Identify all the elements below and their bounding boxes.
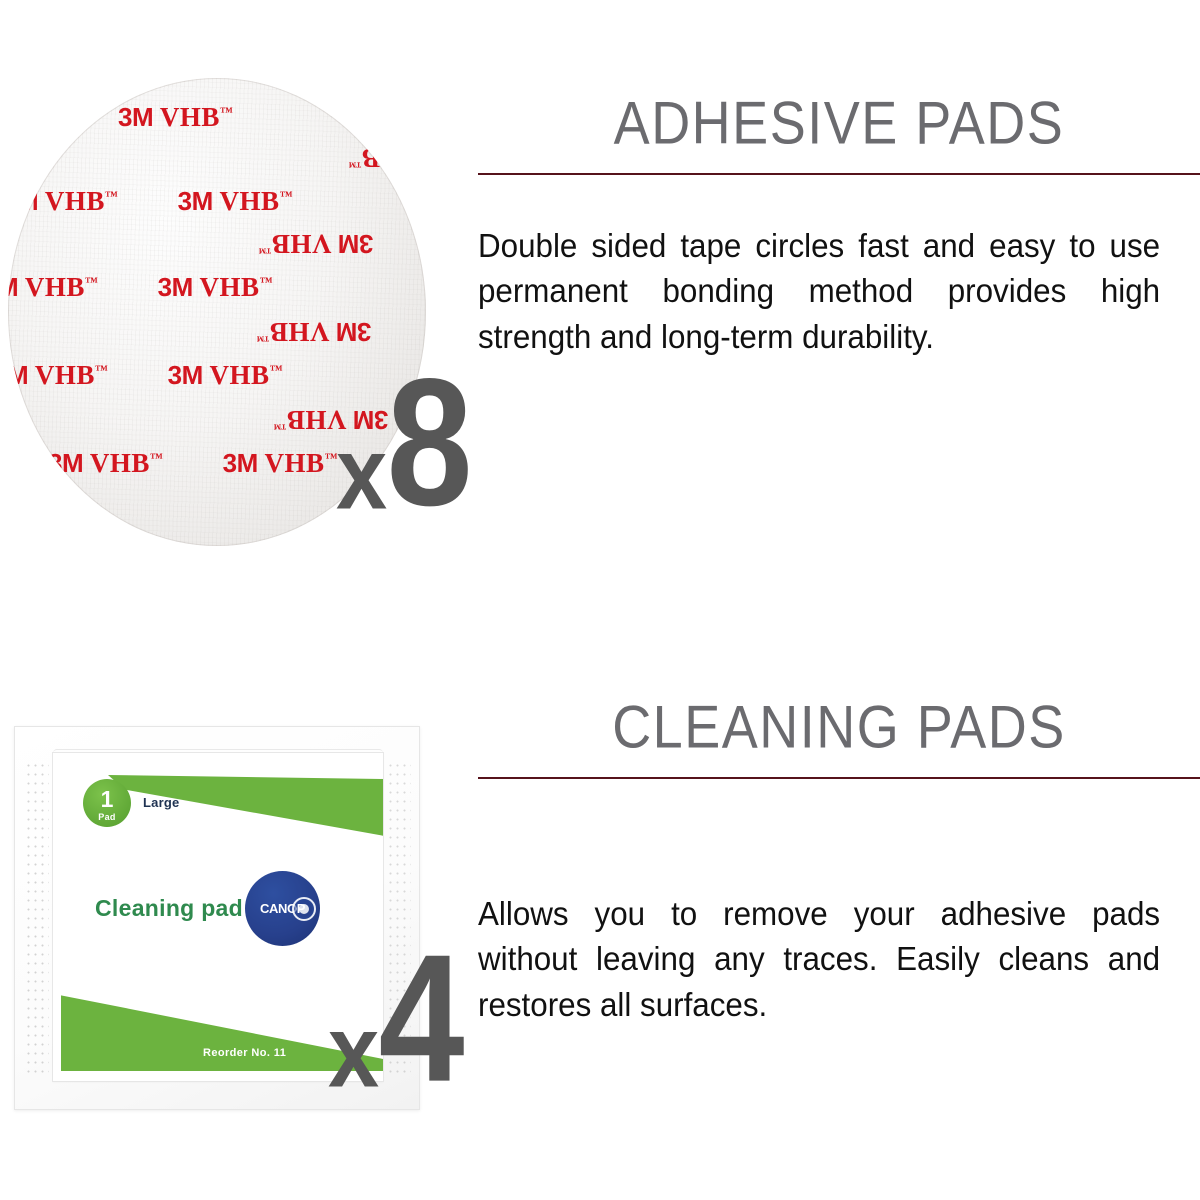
vhb-trademark: ™ (220, 104, 234, 119)
cleaning-text-column: CLEANING PADS Allows you to remove your … (478, 696, 1200, 1027)
vhb-brand: 3M (118, 102, 153, 132)
vhb-product: VHB (271, 229, 331, 259)
vhb-trademark: ™ (273, 418, 287, 433)
vhb-trademark: ™ (85, 274, 99, 289)
section-adhesive-pads: 3M VHB™ 3M VHB™ 3M VHB™ 3M VHB™ 3M VHB™ … (0, 0, 1200, 600)
canopus-brand-logo: CANOP (245, 871, 320, 946)
vhb-pattern-row: 3M VHB™ 3M VHB™ (8, 316, 426, 347)
cleaning-quantity-badge: x4 (328, 934, 465, 1102)
vhb-brand: 3M (158, 272, 193, 302)
vhb-trademark: ™ (150, 450, 164, 465)
section-cleaning-pads: 1 Pad Large Cleaning pad CANOP Reorder N… (0, 600, 1200, 1200)
vhb-product: VHB (45, 186, 105, 216)
vhb-product: VHB (269, 317, 329, 347)
adhesive-title-divider (478, 173, 1200, 175)
pad-count-label: Pad (83, 813, 131, 822)
vhb-product: VHB (210, 360, 270, 390)
sachet-crimp-left-icon (25, 761, 49, 1079)
adhesive-text-column: ADHESIVE PADS Double sided tape circles … (478, 92, 1200, 359)
adhesive-heading: ADHESIVE PADS (478, 92, 1200, 155)
quantity-multiplier-symbol: x (336, 422, 383, 525)
pad-count-badge: 1 Pad (83, 779, 131, 827)
vhb-trademark: ™ (260, 274, 274, 289)
vhb-brand: 3M (168, 360, 203, 390)
vhb-brand: 3M (48, 448, 83, 478)
cleaning-heading: CLEANING PADS (478, 696, 1200, 759)
vhb-brand: 3M (223, 448, 258, 478)
sachet-reorder-number: Reorder No. 11 (203, 1047, 286, 1059)
vhb-trademark: ™ (280, 188, 294, 203)
vhb-product: VHB (160, 102, 220, 132)
vhb-product: VHB (35, 360, 95, 390)
vhb-product: VHB (90, 448, 150, 478)
vhb-pattern-row: 3M VHB™ 3M VHB™ (8, 186, 426, 217)
sachet-product-label: Cleaning pad (95, 895, 243, 922)
vhb-product: VHB (265, 448, 325, 478)
vhb-pattern-row: 3M VHB™ (118, 102, 426, 133)
adhesive-quantity-badge: x8 (336, 358, 473, 526)
product-feature-page: 3M VHB™ 3M VHB™ 3M VHB™ 3M VHB™ 3M VHB™ … (0, 0, 1200, 1200)
vhb-brand: 3M (336, 317, 371, 347)
pad-count-number: 1 (83, 779, 131, 811)
vhb-pattern-row: 3M VHB™ 3M VHB™ (78, 142, 426, 173)
vhb-trademark: ™ (105, 188, 119, 203)
quantity-value: 4 (379, 927, 461, 1108)
adhesive-description: Double sided tape circles fast and easy … (478, 223, 1164, 360)
vhb-trademark: ™ (348, 156, 362, 171)
vhb-brand: 3M (338, 229, 373, 259)
quantity-value: 8 (387, 351, 469, 532)
vhb-brand: 3M (8, 360, 28, 390)
vhb-pattern-row: 3M VHB™ 3M VHB™ (8, 272, 426, 303)
vhb-brand: 3M (8, 186, 38, 216)
cleaning-description: Allows you to remove your adhesive pads … (478, 891, 1164, 1028)
brand-swirl-icon (292, 897, 316, 921)
vhb-trademark: ™ (270, 362, 284, 377)
vhb-pattern-row: 3M VHB™ 3M VHB™ (8, 228, 426, 259)
quantity-multiplier-symbol: x (328, 1000, 375, 1103)
sachet-size-label: Large (143, 795, 179, 810)
vhb-brand: 3M (8, 272, 18, 302)
vhb-product: VHB (361, 143, 421, 173)
vhb-product: VHB (220, 186, 280, 216)
vhb-trademark: ™ (95, 362, 109, 377)
vhb-brand: 3M (178, 186, 213, 216)
vhb-product: VHB (200, 272, 260, 302)
vhb-trademark: ™ (258, 242, 272, 257)
vhb-trademark: ™ (256, 330, 270, 345)
vhb-product: VHB (25, 272, 85, 302)
cleaning-title-divider (478, 777, 1200, 779)
